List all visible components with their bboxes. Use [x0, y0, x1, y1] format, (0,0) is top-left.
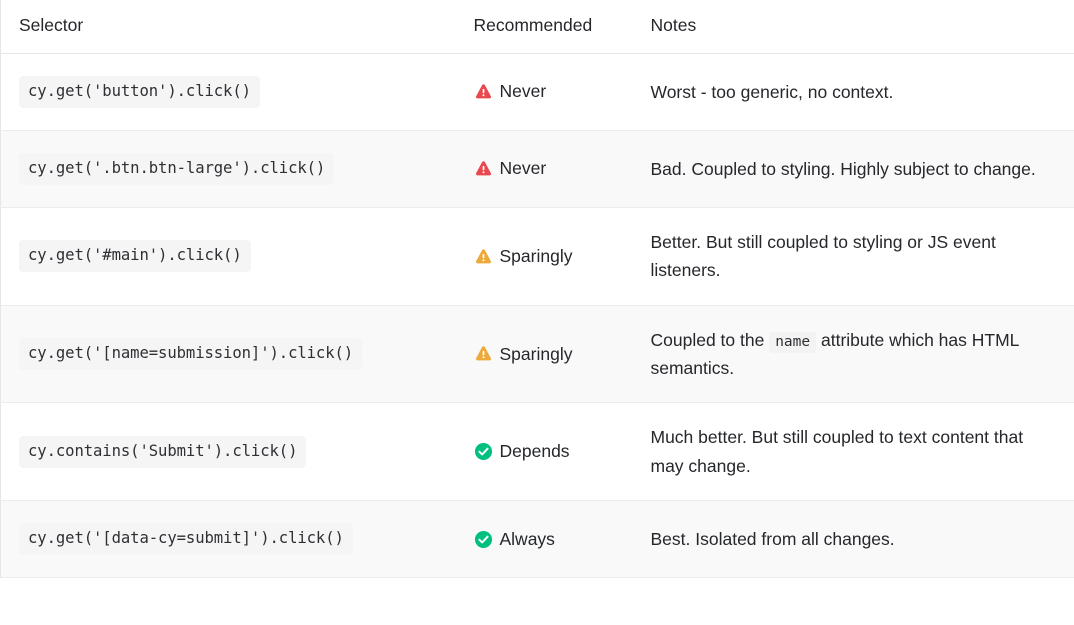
- selector-recommendation-table: Selector Recommended Notes cy.get('butto…: [0, 0, 1074, 578]
- table-row: cy.get('[data-cy=submit]').click()Always…: [1, 501, 1074, 578]
- cell-notes: Worst - too generic, no context.: [639, 53, 1074, 130]
- recommendation-label: Never: [500, 157, 547, 180]
- cell-recommended: Depends: [461, 403, 639, 501]
- column-header-notes: Notes: [639, 0, 1074, 53]
- table-row: cy.get('button').click()NeverWorst - too…: [1, 53, 1074, 130]
- warning-triangle-icon: [474, 82, 493, 101]
- cell-selector: cy.get('[name=submission]').click(): [1, 305, 461, 403]
- selector-code: cy.get('button').click(): [19, 76, 260, 108]
- cell-selector: cy.get('#main').click(): [1, 207, 461, 305]
- notes-text: Best. Isolated from all changes.: [651, 529, 895, 549]
- recommendation-label: Sparingly: [500, 245, 573, 268]
- cell-recommended: Never: [461, 130, 639, 207]
- recommendation-label: Sparingly: [500, 343, 573, 366]
- selector-code: cy.get('#main').click(): [19, 240, 251, 272]
- table-row: cy.get('.btn.btn-large').click()NeverBad…: [1, 130, 1074, 207]
- notes-text: Bad. Coupled to styling. Highly subject …: [651, 159, 1036, 179]
- column-header-selector: Selector: [1, 0, 461, 53]
- recommendation-badge: Sparingly: [474, 343, 633, 366]
- cell-selector: cy.contains('Submit').click(): [1, 403, 461, 501]
- cell-selector: cy.get('[data-cy=submit]').click(): [1, 501, 461, 578]
- caution-triangle-icon: [474, 344, 493, 363]
- cell-selector: cy.get('.btn.btn-large').click(): [1, 130, 461, 207]
- recommendation-badge: Always: [474, 528, 633, 551]
- recommendation-label: Always: [500, 528, 555, 551]
- recommendation-badge: Never: [474, 80, 633, 103]
- cell-notes: Better. But still coupled to styling or …: [639, 207, 1074, 305]
- cell-recommended: Sparingly: [461, 207, 639, 305]
- cell-notes: Coupled to the name attribute which has …: [639, 305, 1074, 403]
- table-row: cy.contains('Submit').click()DependsMuch…: [1, 403, 1074, 501]
- column-header-recommended: Recommended: [461, 0, 639, 53]
- check-circle-icon: [474, 530, 493, 549]
- table-header-row: Selector Recommended Notes: [1, 0, 1074, 53]
- check-circle-icon: [474, 442, 493, 461]
- selector-code: cy.get('[data-cy=submit]').click(): [19, 523, 353, 555]
- table-row: cy.get('#main').click()SparinglyBetter. …: [1, 207, 1074, 305]
- selector-code: cy.get('[name=submission]').click(): [19, 338, 362, 370]
- recommendation-label: Depends: [500, 440, 570, 463]
- cell-recommended: Never: [461, 53, 639, 130]
- selector-table-container: Selector Recommended Notes cy.get('butto…: [0, 0, 1074, 625]
- table-row: cy.get('[name=submission]').click()Spari…: [1, 305, 1074, 403]
- cell-notes: Best. Isolated from all changes.: [639, 501, 1074, 578]
- table-header: Selector Recommended Notes: [1, 0, 1074, 53]
- warning-triangle-icon: [474, 159, 493, 178]
- notes-text: Coupled to the: [651, 330, 770, 350]
- table-body: cy.get('button').click()NeverWorst - too…: [1, 53, 1074, 577]
- cell-recommended: Always: [461, 501, 639, 578]
- caution-triangle-icon: [474, 247, 493, 266]
- notes-inline-code: name: [769, 332, 816, 353]
- cell-notes: Bad. Coupled to styling. Highly subject …: [639, 130, 1074, 207]
- cell-selector: cy.get('button').click(): [1, 53, 461, 130]
- selector-code: cy.contains('Submit').click(): [19, 436, 306, 468]
- recommendation-label: Never: [500, 80, 547, 103]
- notes-text: Worst - too generic, no context.: [651, 82, 894, 102]
- notes-text: Better. But still coupled to styling or …: [651, 232, 996, 280]
- recommendation-badge: Sparingly: [474, 245, 633, 268]
- cell-notes: Much better. But still coupled to text c…: [639, 403, 1074, 501]
- selector-code: cy.get('.btn.btn-large').click(): [19, 153, 334, 185]
- notes-text: Much better. But still coupled to text c…: [651, 427, 1024, 475]
- recommendation-badge: Never: [474, 157, 633, 180]
- recommendation-badge: Depends: [474, 440, 633, 463]
- cell-recommended: Sparingly: [461, 305, 639, 403]
